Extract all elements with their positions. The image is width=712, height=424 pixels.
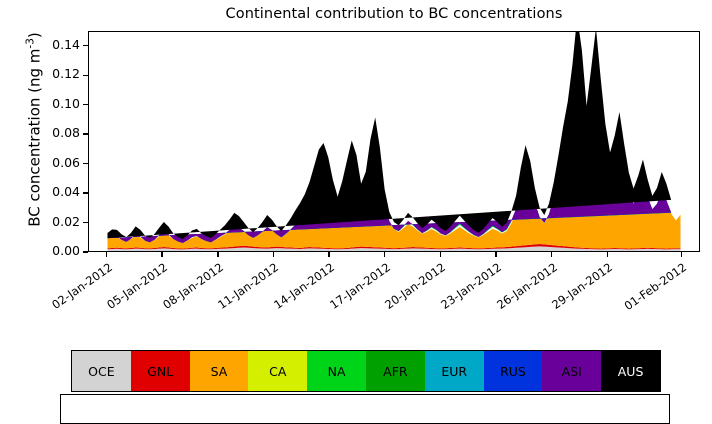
legend-item-label: CA <box>269 364 286 379</box>
legend-item-label: GNL <box>147 364 173 379</box>
legend-item-aus[interactable]: AUS <box>601 351 660 391</box>
x-tick-label: 26-Jan-2012 <box>453 260 559 340</box>
legend-item-na[interactable]: NA <box>307 351 366 391</box>
x-tick-mark <box>161 252 162 257</box>
y-tick: 0.14 <box>0 46 88 47</box>
x-tick-label: 14-Jan-2012 <box>231 260 337 340</box>
y-tick-label: 0.02 <box>52 214 80 229</box>
y-axis-label-exponent: -3 <box>25 38 37 48</box>
x-tick-mark <box>106 252 107 257</box>
page-title: Continental contribution to BC concentra… <box>88 6 700 22</box>
x-tick-mark <box>551 252 552 257</box>
plot-area <box>88 31 700 252</box>
legend-item-ca[interactable]: CA <box>248 351 307 391</box>
x-tick-label: 05-Jan-2012 <box>64 260 170 340</box>
x-tick-mark <box>681 252 682 257</box>
y-tick-label: 0.06 <box>52 155 80 170</box>
plot-clip <box>89 32 699 251</box>
y-tick: 0.10 <box>0 105 88 106</box>
legend-item-label: NA <box>328 364 346 379</box>
legend-item-asi[interactable]: ASI <box>542 351 601 391</box>
y-tick-label: 0.10 <box>52 96 80 111</box>
legend-item-label: AFR <box>383 364 407 379</box>
x-tick-mark <box>217 252 218 257</box>
x-tick-label: 17-Jan-2012 <box>286 260 392 340</box>
y-axis-label-suffix: ) <box>26 32 44 38</box>
legend-item-oce[interactable]: OCE <box>72 351 131 391</box>
stacked-area-chart <box>89 32 699 251</box>
y-tick-label: 0.08 <box>52 125 80 140</box>
legend-item-label: OCE <box>88 364 114 379</box>
legend-item-sa[interactable]: SA <box>190 351 249 391</box>
y-tick: 0.06 <box>0 164 88 165</box>
legend: OCEGNLSACANAAFREURRUSASIAUS <box>71 350 661 392</box>
legend-item-label: AUS <box>618 364 644 379</box>
x-tick-label: 23-Jan-2012 <box>398 260 504 340</box>
legend-item-afr[interactable]: AFR <box>366 351 425 391</box>
y-tick: 0.04 <box>0 193 88 194</box>
legend-item-label: ASI <box>562 364 582 379</box>
y-tick-label: 0.04 <box>52 184 80 199</box>
legend-item-eur[interactable]: EUR <box>425 351 484 391</box>
x-tick-mark <box>273 252 274 257</box>
legend-item-label: RUS <box>500 364 526 379</box>
x-tick-label: 02-Jan-2012 <box>8 260 114 340</box>
y-tick: 0.00 <box>0 252 88 253</box>
x-tick-mark <box>384 252 385 257</box>
y-tick-label: 0.14 <box>52 37 80 52</box>
chart-page: Continental contribution to BC concentra… <box>0 0 712 402</box>
legend-item-label: SA <box>211 364 228 379</box>
legend-item-rus[interactable]: RUS <box>484 351 543 391</box>
y-tick: 0.08 <box>0 134 88 135</box>
legend-item-gnl[interactable]: GNL <box>131 351 190 391</box>
y-tick: 0.02 <box>0 223 88 224</box>
x-tick-mark <box>328 252 329 257</box>
x-tick-mark <box>440 252 441 257</box>
x-tick-label: 08-Jan-2012 <box>120 260 226 340</box>
x-tick-mark <box>495 252 496 257</box>
y-tick-label: 0.12 <box>52 66 80 81</box>
lower-panel-frame <box>60 394 670 424</box>
y-tick: 0.12 <box>0 75 88 76</box>
x-tick-label: 20-Jan-2012 <box>342 260 448 340</box>
y-tick-label: 0.00 <box>52 243 80 258</box>
x-tick-mark <box>607 252 608 257</box>
x-tick-label: 11-Jan-2012 <box>175 260 281 340</box>
legend-item-label: EUR <box>441 364 467 379</box>
